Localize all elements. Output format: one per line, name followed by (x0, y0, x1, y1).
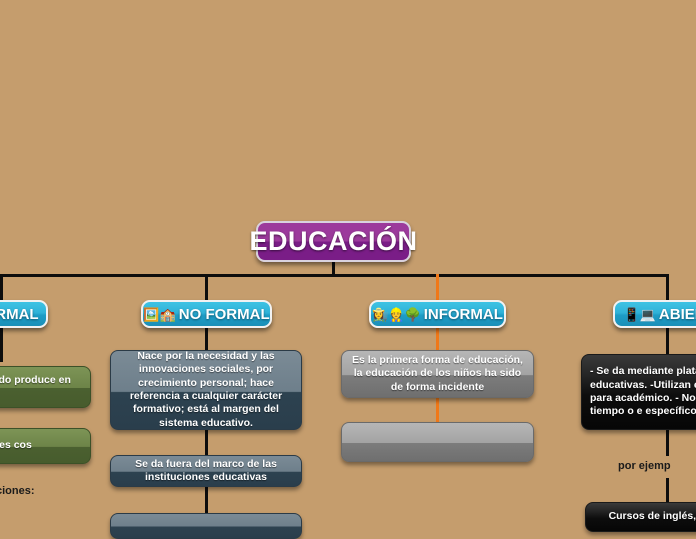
connector-informal-spine-1 (436, 328, 439, 350)
connector-trunk-left (0, 274, 334, 277)
no-formal-child-1[interactable]: Nace por la necesidad y las innovaciones… (110, 350, 302, 430)
abierta-por-ejemplo-label: por ejemp (618, 460, 671, 472)
informal-child-1[interactable]: Es la primera forma de educación, la edu… (341, 350, 534, 398)
root-node-label: EDUCACIÓN (250, 226, 418, 257)
abierta-child-1-text: - Se da mediante platafor educativas. -U… (590, 365, 696, 419)
no-formal-child-2[interactable]: Se da fuera del marco de las institucion… (110, 455, 302, 487)
formal-child-1-text: ático, organizado produce en centros are… (0, 374, 82, 401)
connector-no-formal-spine-3 (205, 487, 208, 513)
connector-drop-informal (436, 274, 439, 300)
family-tree-icon: 👩‍🌾👷🌳 (372, 308, 421, 321)
abierta-child-2-text: Cursos de inglés, diplom (594, 510, 696, 523)
root-node-educacion[interactable]: EDUCACIÓN (256, 221, 411, 262)
connector-drop-no-formal (205, 274, 208, 300)
category-label-formal: FORMAL (0, 306, 39, 323)
connector-no-formal-spine-2 (205, 430, 208, 455)
connector-no-formal-spine-1 (205, 328, 208, 350)
mindmap-canvas: EDUCACIÓN FORMAL 🖼️🏫 NO FORMAL 👩‍🌾👷🌳 INF… (0, 0, 696, 520)
category-label-abierta: ABIERTA (659, 306, 696, 323)
category-node-no-formal[interactable]: 🖼️🏫 NO FORMAL (141, 300, 272, 328)
abierta-child-2[interactable]: Cursos de inglés, diplom (585, 502, 696, 532)
connector-informal-spine-2 (436, 398, 439, 422)
formal-child-2-text: o y a los poderes cos (0, 439, 82, 452)
informal-child-2[interactable] (341, 422, 534, 462)
connector-drop-formal (0, 274, 3, 300)
connector-abierta-spine-2 (666, 430, 669, 456)
connector-abierta-spine-1 (666, 328, 669, 354)
category-label-informal: INFORMAL (424, 306, 503, 323)
no-formal-child-3[interactable] (110, 513, 302, 539)
abierta-child-1[interactable]: - Se da mediante platafor educativas. -U… (581, 354, 696, 430)
formal-child-2[interactable]: o y a los poderes cos (0, 428, 91, 464)
phone-laptop-icon: 📱💻 (624, 308, 656, 321)
category-label-no-formal: NO FORMAL (179, 306, 270, 323)
connector-drop-abierta (666, 274, 669, 300)
informal-child-1-text: Es la primera forma de educación, la edu… (350, 354, 525, 394)
formal-instituciones-label: ciones: (0, 485, 35, 497)
connector-abierta-spine-3 (666, 478, 669, 502)
picture-school-icon: 🖼️🏫 (143, 308, 175, 321)
formal-child-1[interactable]: ático, organizado produce en centros are… (0, 366, 91, 408)
no-formal-child-2-text: Se da fuera del marco de las institucion… (119, 458, 293, 485)
connector-formal-spine (0, 328, 3, 362)
no-formal-child-1-text: Nace por la necesidad y las innovaciones… (119, 350, 293, 431)
category-node-informal[interactable]: 👩‍🌾👷🌳 INFORMAL (369, 300, 506, 328)
category-node-formal[interactable]: FORMAL (0, 300, 48, 328)
category-node-abierta[interactable]: 📱💻 ABIERTA (613, 300, 696, 328)
connector-trunk-right (333, 274, 669, 277)
